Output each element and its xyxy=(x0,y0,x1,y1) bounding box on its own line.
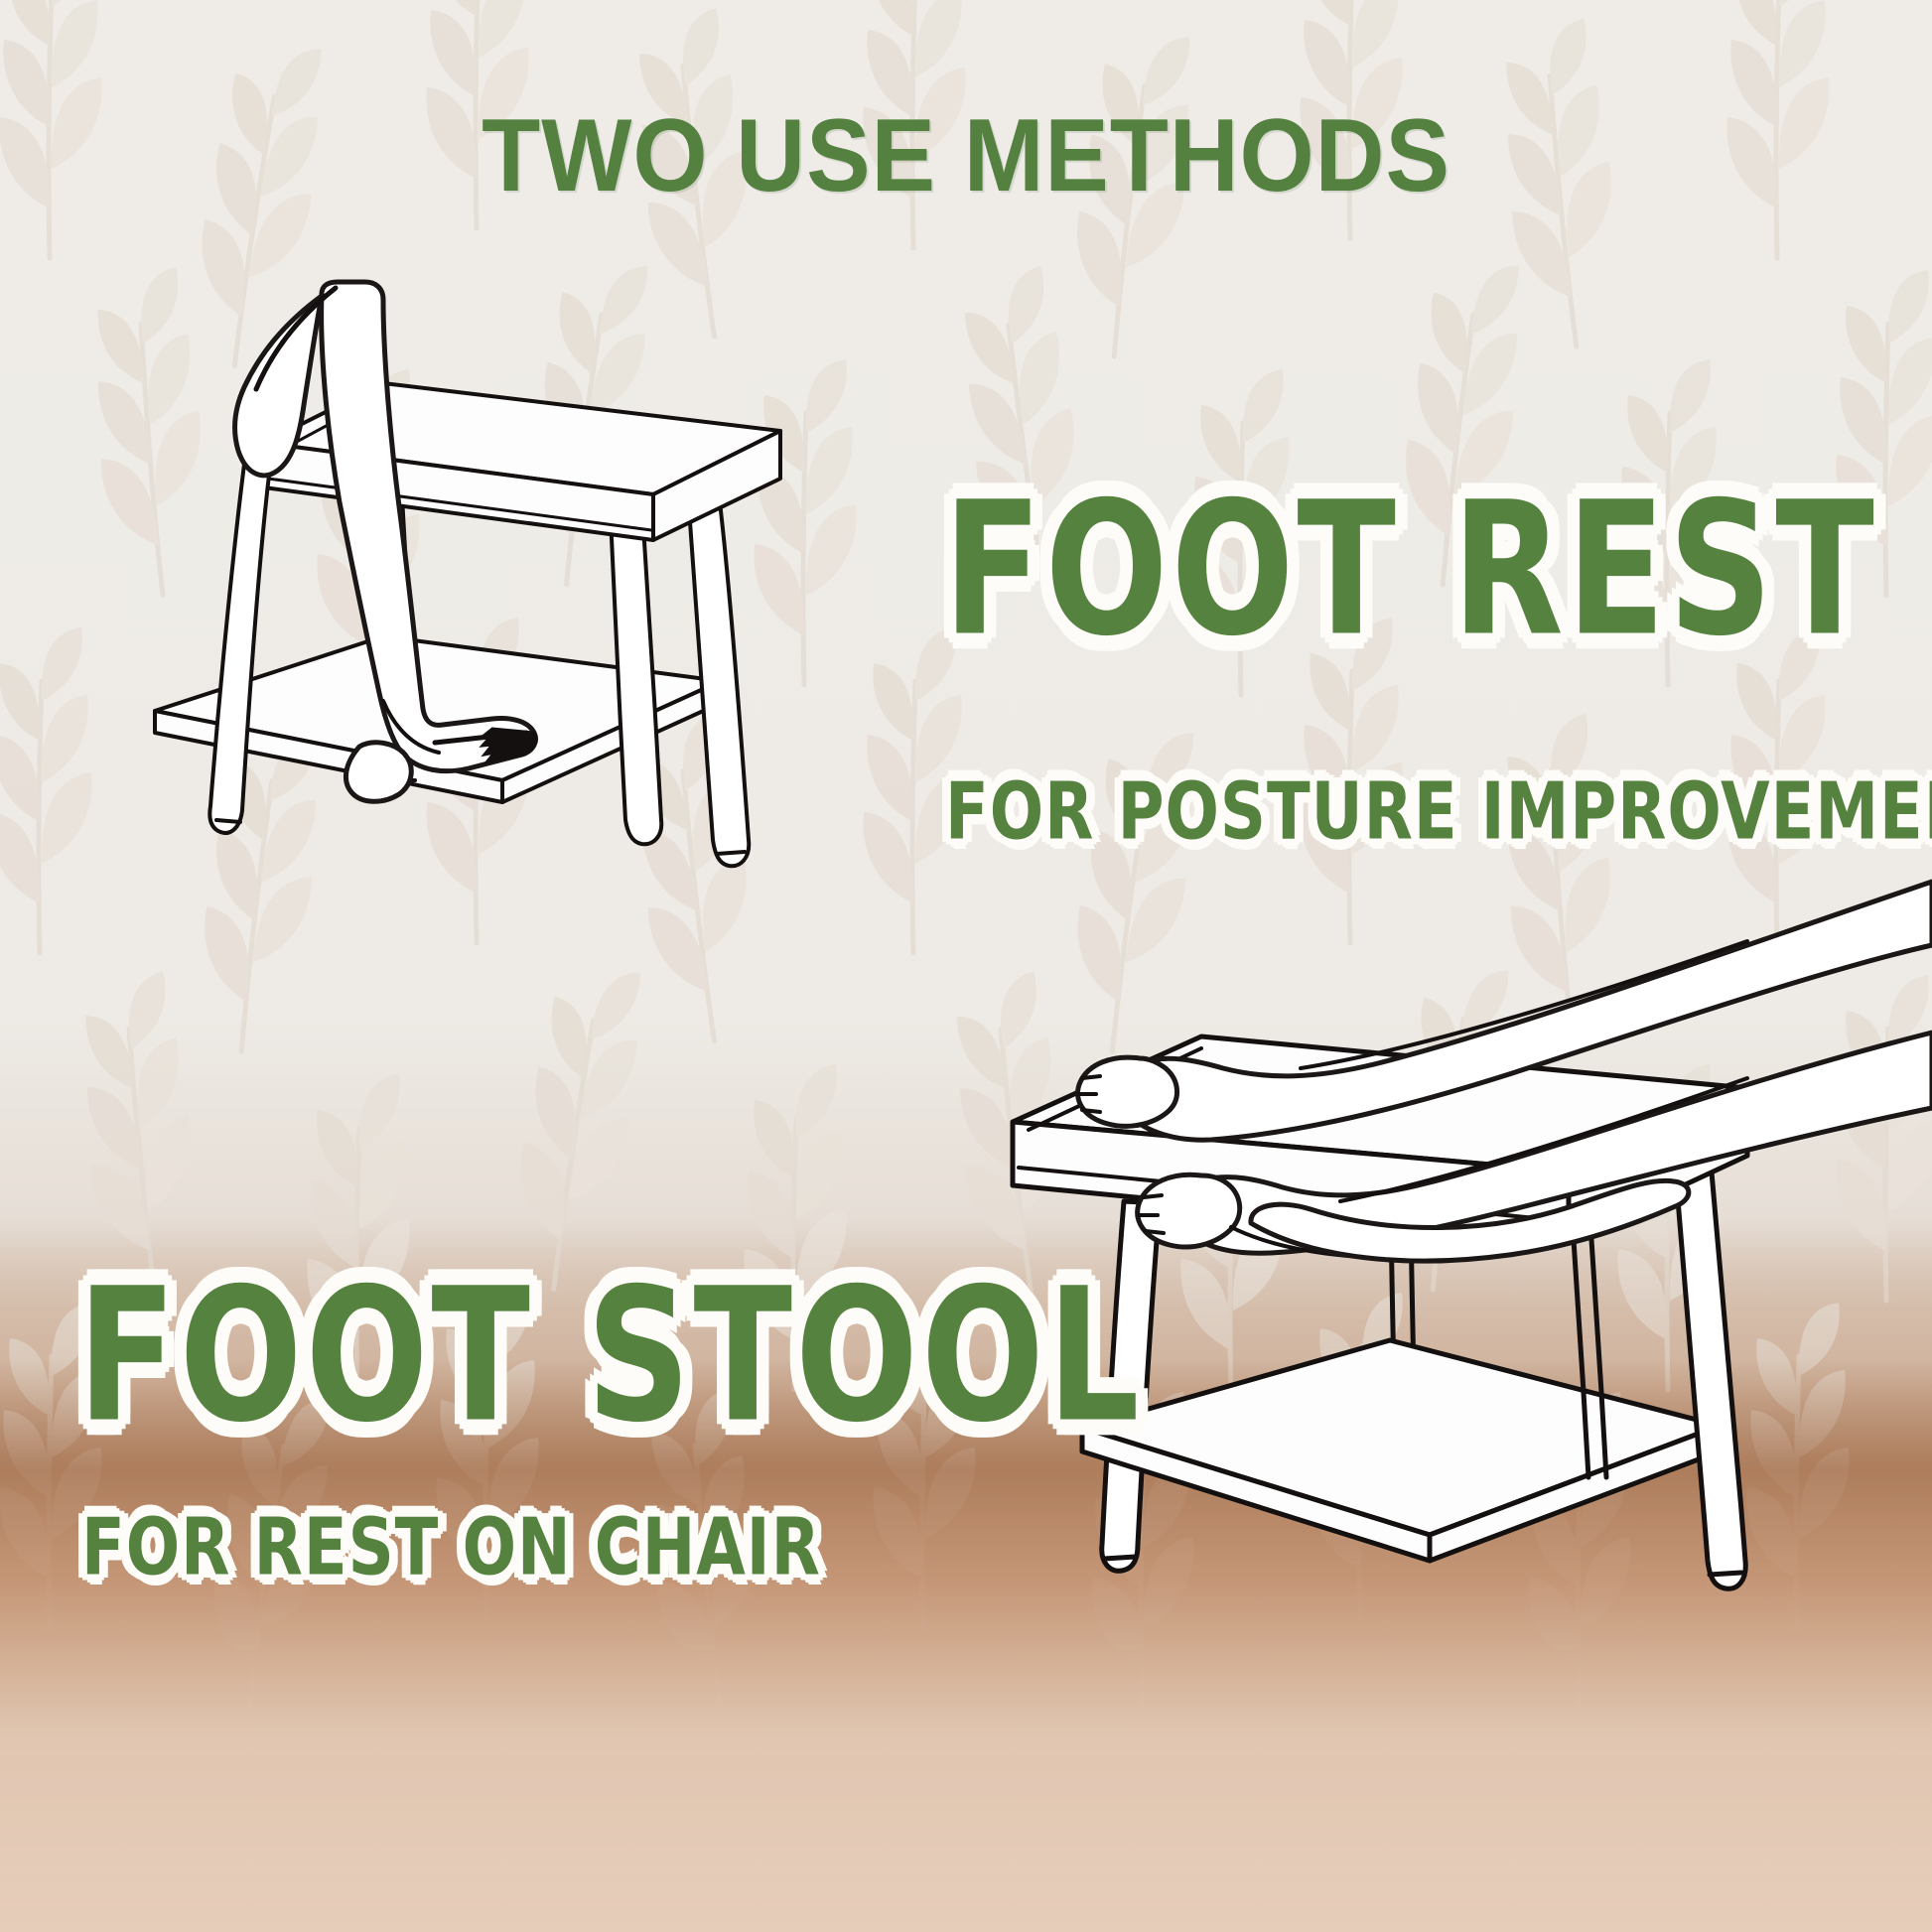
foot-rest-heading: FOOT REST xyxy=(943,478,1877,661)
page-title: TWO USE METHODS xyxy=(68,104,1864,207)
foot-rest-heading-wrap: FOOT REST xyxy=(943,494,1916,645)
foot-rest-subheading: FOR POSTURE IMPROVEMENT xyxy=(945,772,1932,851)
foot-rest-subheading-wrap: FOR POSTURE IMPROVEMENT xyxy=(945,779,1932,845)
foot-stool-subheading-wrap: FOR REST ON CHAIR xyxy=(81,1515,844,1581)
foot-stool-subheading: FOR REST ON CHAIR xyxy=(81,1508,821,1587)
foot-stool-heading-wrap: FOOT STOOL xyxy=(77,1281,1186,1432)
foot-stool-heading: FOOT STOOL xyxy=(77,1264,1143,1448)
infographic-canvas: TWO USE METHODS xyxy=(0,0,1932,1932)
stool-with-foot-illustration xyxy=(85,284,760,939)
